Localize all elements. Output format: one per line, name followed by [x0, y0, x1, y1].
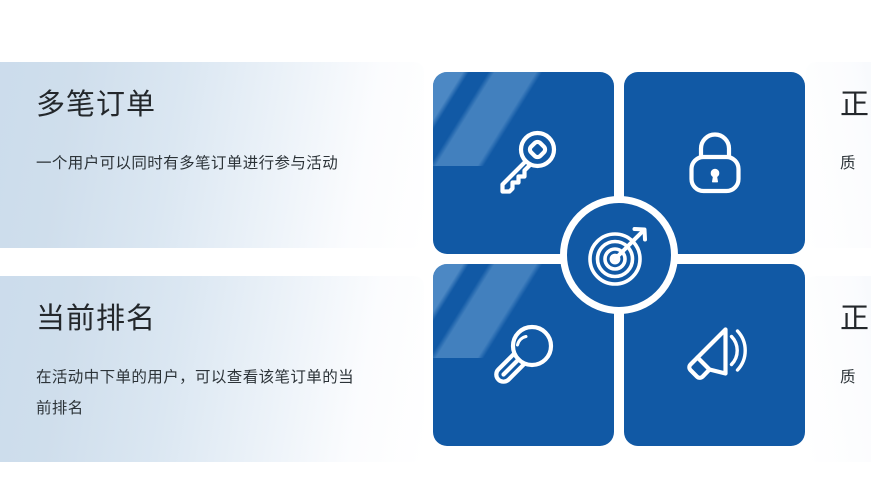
feature-card-left-top: 多笔订单 一个用户可以同时有多笔订单进行参与活动 [0, 62, 424, 248]
card-title: 正 [840, 302, 871, 336]
card-body: 一个用户可以同时有多笔订单进行参与活动 [36, 148, 366, 179]
feature-card-left-bottom: 当前排名 在活动中下单的用户，可以查看该笔订单的当前排名 [0, 276, 424, 462]
card-title: 多笔订单 [36, 88, 390, 122]
feature-card-right-bottom: 正 质 [806, 276, 871, 462]
card-body: 在活动中下单的用户，可以查看该笔订单的当前排名 [36, 362, 366, 424]
slide-canvas: 多笔订单 一个用户可以同时有多笔订单进行参与活动 当前排名 在活动中下单的用户，… [0, 0, 871, 490]
card-title: 当前排名 [36, 302, 390, 336]
card-body: 质 [840, 362, 871, 393]
card-body: 质 [840, 148, 871, 179]
target-arrow-icon [582, 218, 656, 292]
center-target-badge[interactable] [560, 196, 678, 314]
card-title: 正 [840, 88, 871, 122]
feature-card-right-top: 正 质 [806, 62, 871, 248]
